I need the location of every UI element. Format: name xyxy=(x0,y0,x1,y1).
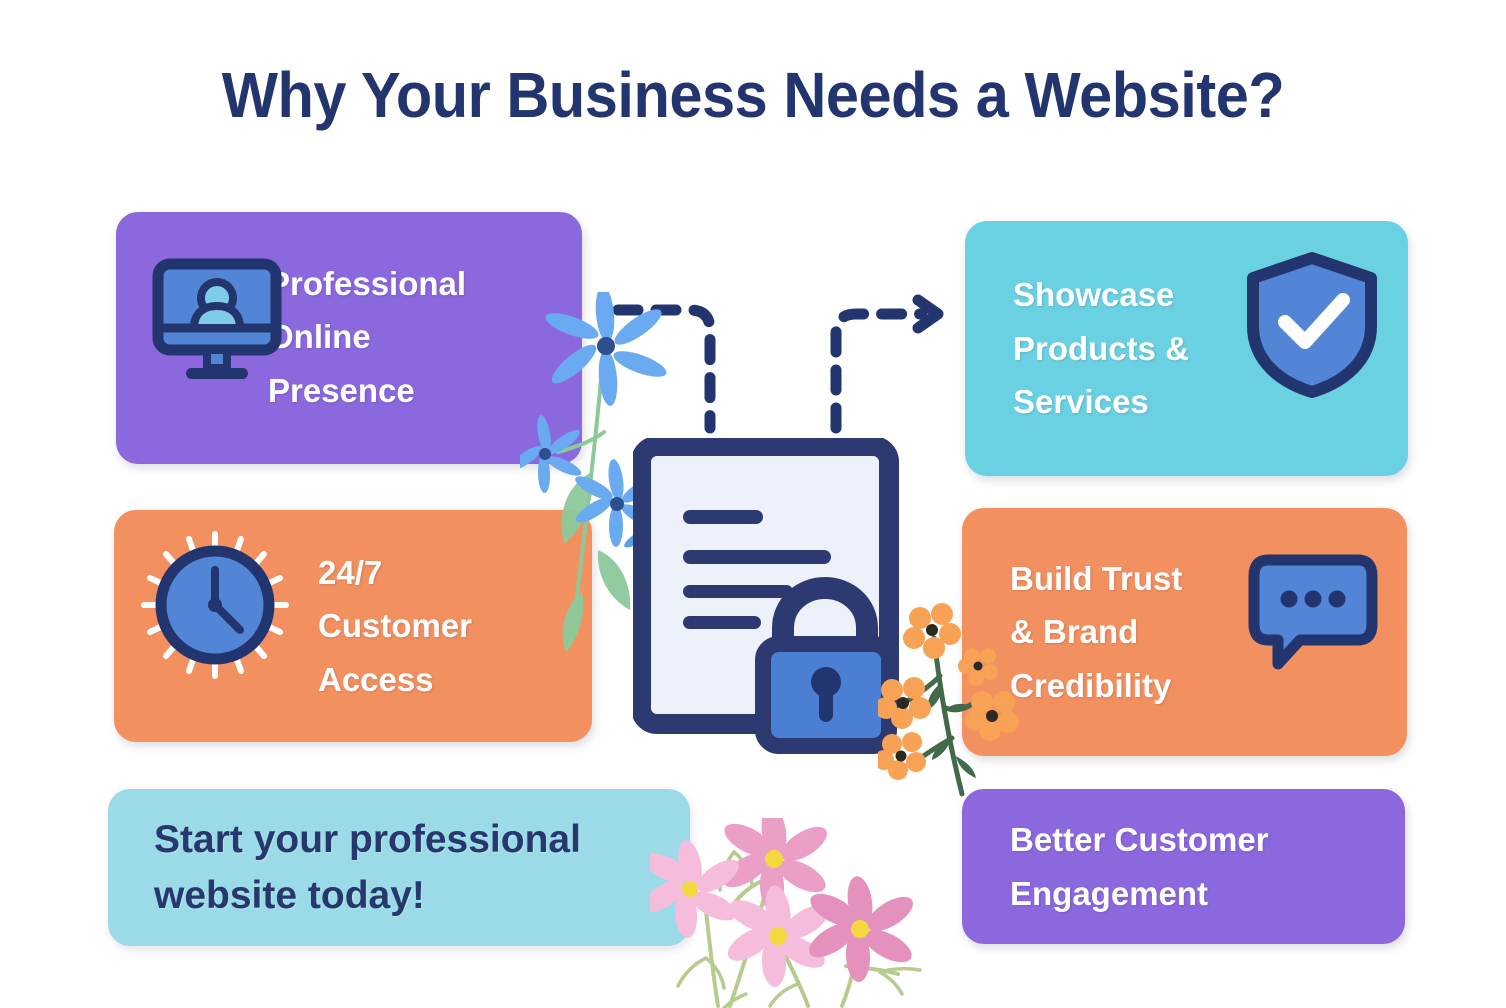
page-title: Why Your Business Needs a Website? xyxy=(53,58,1454,132)
flower-right-upper xyxy=(958,648,998,686)
flower-medium-left xyxy=(520,414,584,493)
flower-left xyxy=(650,838,744,938)
card-label: Better Customer Engagement xyxy=(1010,813,1269,920)
flower-left xyxy=(878,677,931,729)
monitor-user-icon xyxy=(152,258,282,383)
orange-flowers-decoration xyxy=(878,598,1038,798)
cta-label: Start your professional website today! xyxy=(154,812,581,923)
flower-bottom-left xyxy=(878,732,926,780)
card-label: 24/7 Customer Access xyxy=(318,546,472,706)
flower-top xyxy=(903,603,961,659)
flower-large xyxy=(543,292,670,407)
cta-banner[interactable]: Start your professional website today! xyxy=(108,789,690,946)
flower-right-lower xyxy=(965,691,1019,741)
infographic-canvas: Why Your Business Needs a Website? xyxy=(0,0,1506,1004)
shield-check-icon xyxy=(1243,252,1381,398)
leaves xyxy=(928,682,976,778)
connector-right xyxy=(836,314,922,428)
card-label: Professional Online Presence xyxy=(268,257,466,417)
card-label: Showcase Products & Services xyxy=(1013,268,1189,428)
pink-flowers-decoration xyxy=(650,818,940,1008)
clock-icon xyxy=(140,530,290,680)
card-better-customer-engagement[interactable]: Better Customer Engagement xyxy=(962,789,1405,944)
chat-bubble-icon xyxy=(1248,552,1378,672)
